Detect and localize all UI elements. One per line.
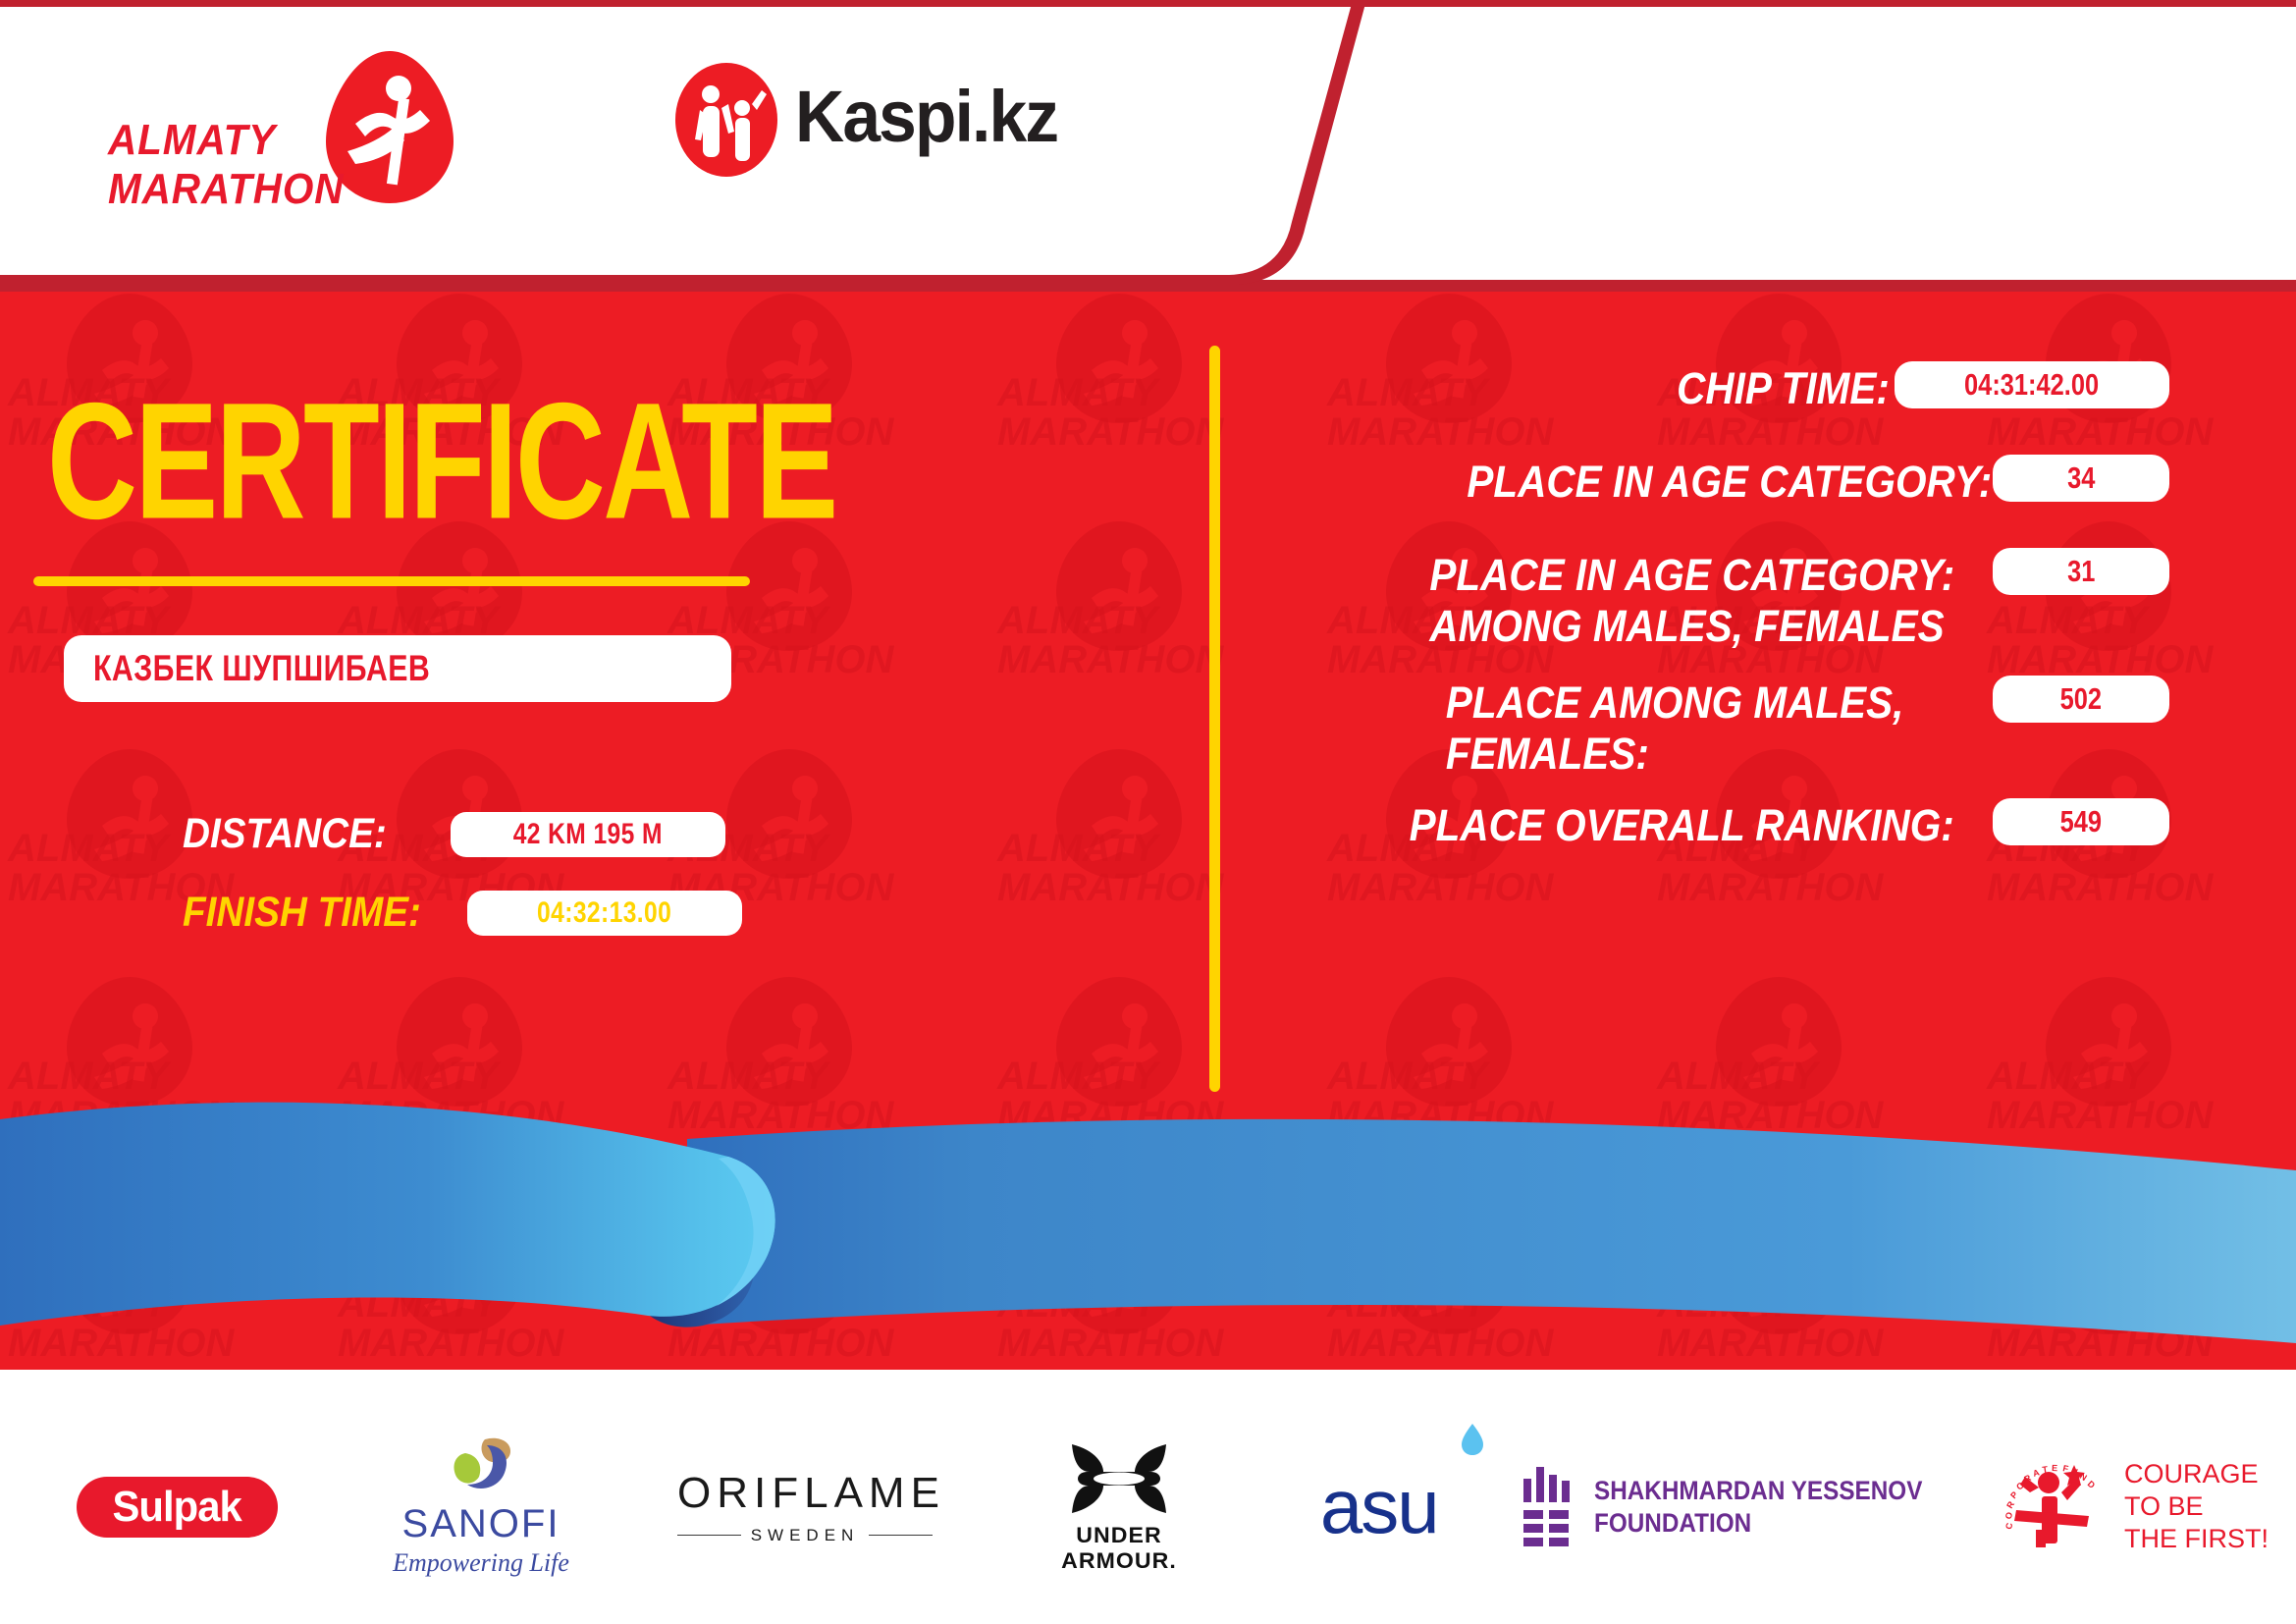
chip-time-value: 04:31:42.00 — [1964, 367, 2099, 403]
page-title: CERTIFICATE — [47, 378, 836, 546]
almaty-marathon-wordmark: ALMATY MARATHON — [108, 116, 344, 214]
oriflame-rule-left — [677, 1535, 741, 1536]
place-gender-label-line1: PLACE AMONG MALES, — [1445, 677, 1903, 729]
place-gender-value-pill: 502 — [1993, 676, 2169, 723]
title-underline — [33, 576, 750, 586]
svg-text:P: P — [2008, 1489, 2019, 1500]
svg-text:O: O — [2003, 1510, 2015, 1520]
finish-time-label: FINISH TIME: — [183, 889, 421, 937]
sulpak-wordmark: Sulpak — [112, 1483, 240, 1532]
asu-droplet-icon — [1460, 1423, 1485, 1456]
under-armour-logo: UNDER ARMOUR. — [1021, 1440, 1217, 1574]
courage-fund-wordmark: COURAGE TO BE THE FIRST! — [2124, 1458, 2269, 1555]
kaspi-people-icon — [667, 61, 785, 179]
place-gender-label-line2: FEMALES: — [1445, 729, 1903, 780]
oriflame-country: SWEDEN — [751, 1526, 860, 1545]
sponsor-oriflame: ORIFLAME SWEDEN — [648, 1389, 962, 1624]
asu-wordmark: asu — [1320, 1462, 1438, 1551]
ribbon-shape — [0, 1080, 2296, 1414]
courage-line-1: COURAGE — [2124, 1458, 2269, 1490]
sanofi-bird-icon — [442, 1435, 520, 1500]
result-row-place-age: PLACE IN AGE CATEGORY: 34 — [1215, 457, 2296, 515]
place-age-gender-value: 31 — [2067, 554, 2095, 589]
kaspi-wordmark: Kaspi.kz — [795, 75, 1057, 158]
courage-line-2: TO BE — [2124, 1490, 2269, 1523]
sulpak-logo: Sulpak — [77, 1477, 278, 1538]
certificate-page: ALMATY MARATHON — [0, 0, 2296, 1624]
svg-text:E: E — [2052, 1463, 2057, 1473]
oriflame-wordmark: ORIFLAME — [677, 1469, 933, 1518]
overall-value-pill: 549 — [1993, 798, 2169, 845]
place-age-gender-label: PLACE IN AGE CATEGORY: AMONG MALES, FEMA… — [1429, 550, 1954, 652]
sponsor-asu: asu — [1276, 1389, 1512, 1624]
oriflame-rule-right — [869, 1535, 933, 1536]
courage-line-3: THE FIRST! — [2124, 1523, 2269, 1555]
svg-text:D: D — [2086, 1479, 2098, 1490]
yessenov-wordmark: SHAKHMARDAN YESSENOV FOUNDATION — [1594, 1475, 1922, 1540]
result-row-place-gender: PLACE AMONG MALES, FEMALES: 502 — [1215, 677, 2296, 785]
sanofi-wordmark: SANOFI — [368, 1502, 594, 1546]
place-age-label: PLACE IN AGE CATEGORY: — [1467, 457, 1992, 508]
distance-row: DISTANCE: 42 KM 195 M — [183, 810, 725, 858]
under-armour-wordmark: UNDER ARMOUR. — [1016, 1523, 1222, 1574]
distance-value: 42 KM 195 M — [513, 818, 663, 851]
finish-time-value-pill: 04:32:13.00 — [467, 891, 742, 936]
athlete-name-value: КАЗБЕК ШУПШИБАЕВ — [93, 648, 430, 689]
almaty-marathon-logo: ALMATY MARATHON — [108, 49, 432, 226]
result-row-overall: PLACE OVERALL RANKING: 549 — [1215, 800, 2296, 859]
finish-time-value: 04:32:13.00 — [537, 896, 671, 930]
svg-text:C: C — [2003, 1521, 2014, 1530]
svg-text:A: A — [2032, 1467, 2042, 1479]
place-age-gender-value-pill: 31 — [1993, 548, 2169, 595]
sponsor-strip: Sulpak SANOFI Empowering Life ORIFLAME — [0, 1389, 2296, 1624]
distance-value-pill: 42 KM 195 M — [451, 812, 725, 857]
courage-fund-logo: C O R P O R A T E F U N D — [2002, 1453, 2269, 1561]
overall-label: PLACE OVERALL RANKING: — [1410, 800, 1954, 851]
sponsor-courage-fund: C O R P O R A T E F U N D — [2002, 1389, 2287, 1624]
place-gender-label: PLACE AMONG MALES, FEMALES: — [1445, 677, 1903, 780]
yessenov-wordmark-line1: SHAKHMARDAN YESSENOV — [1594, 1475, 1922, 1507]
place-age-gender-label-line2: AMONG MALES, FEMALES — [1429, 601, 1954, 652]
result-row-chip-time: CHIP TIME: 04:31:42.00 — [1215, 363, 2296, 422]
yessenov-wordmark-line2: FOUNDATION — [1594, 1507, 1922, 1540]
chip-time-label: CHIP TIME: — [1677, 363, 1890, 414]
svg-text:T: T — [2042, 1464, 2049, 1475]
sponsor-yessenov: SHAKHMARDAN YESSENOV FOUNDATION — [1522, 1389, 1993, 1624]
sponsor-under-armour: UNDER ARMOUR. — [991, 1389, 1247, 1624]
sponsor-sanofi: SANOFI Empowering Life — [344, 1389, 618, 1624]
sponsor-sulpak: Sulpak — [39, 1389, 314, 1624]
yessenov-bars-icon — [1522, 1465, 1573, 1549]
event-ribbon: APRIL21st RUN FOR SENSATIONS — [0, 1080, 2296, 1414]
place-gender-value: 502 — [2060, 681, 2102, 717]
asu-logo: asu — [1306, 1462, 1482, 1551]
athlete-name-field[interactable]: КАЗБЕК ШУПШИБАЕВ — [64, 635, 731, 702]
under-armour-icon — [1060, 1440, 1178, 1517]
place-age-value-pill: 34 — [1993, 455, 2169, 502]
logo-line-2: MARATHON — [108, 165, 344, 214]
place-age-gender-label-line1: PLACE IN AGE CATEGORY: — [1429, 550, 1954, 601]
distance-label: DISTANCE: — [183, 810, 387, 858]
sanofi-logo: SANOFI Empowering Life — [368, 1435, 594, 1578]
finish-time-row: FINISH TIME: 04:32:13.00 — [183, 889, 742, 937]
result-row-place-age-gender: PLACE IN AGE CATEGORY: AMONG MALES, FEMA… — [1215, 550, 2296, 658]
overall-value: 549 — [2060, 804, 2102, 839]
oriflame-logo: ORIFLAME SWEDEN — [677, 1469, 933, 1545]
logo-group: ALMATY MARATHON — [0, 0, 1178, 285]
oriflame-sub-row: SWEDEN — [677, 1526, 933, 1545]
sanofi-tagline: Empowering Life — [368, 1548, 594, 1578]
yessenov-logo: SHAKHMARDAN YESSENOV FOUNDATION — [1522, 1465, 1959, 1549]
header: ALMATY MARATHON — [0, 0, 1669, 295]
chip-time-value-pill: 04:31:42.00 — [1895, 361, 2169, 408]
logo-line-1: ALMATY — [108, 116, 344, 165]
place-age-value: 34 — [2067, 460, 2095, 496]
courage-runner-icon: C O R P O R A T E F U N D — [2002, 1453, 2110, 1561]
